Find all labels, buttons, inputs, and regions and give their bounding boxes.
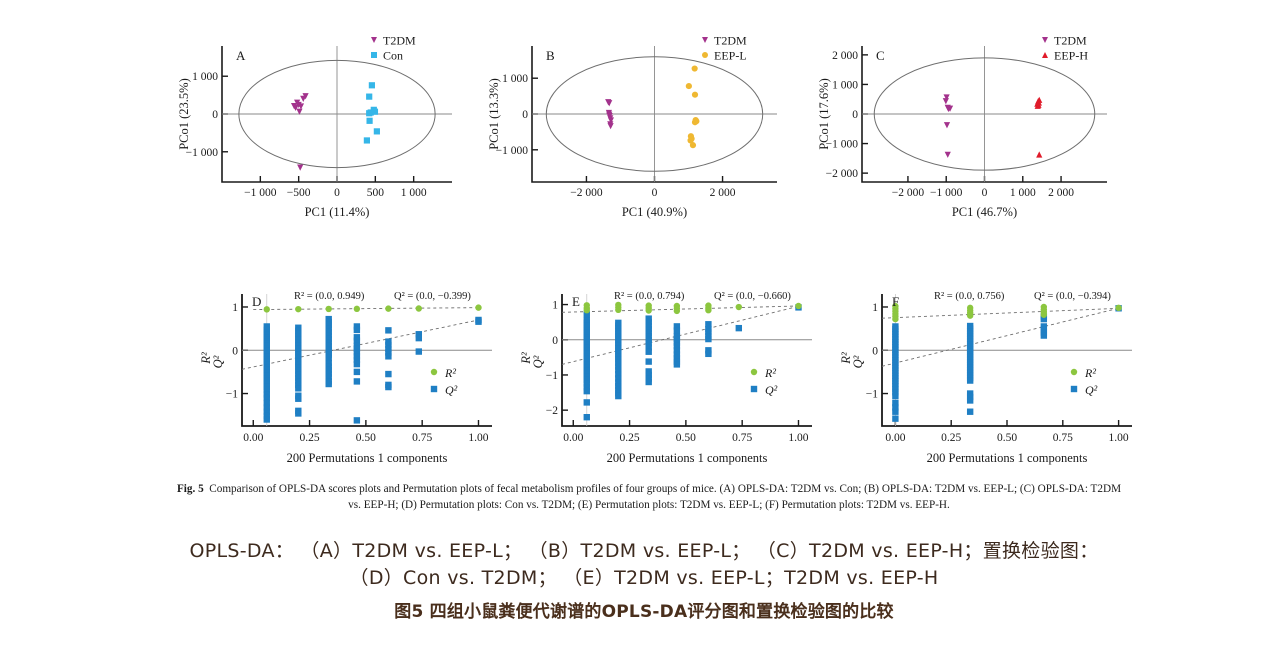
caption-cn-line-2: （D）Con vs. T2DM； （E）T2DM vs. EEP-L；T2DM …	[60, 565, 1228, 592]
x-tick-label: 0.50	[356, 432, 376, 444]
stat-q2-annotation: Q² = (0.0, −0.660)	[714, 291, 791, 302]
data-point-r2	[416, 305, 422, 311]
panel-b-opls-da-t2dm-vs-eep-l: −1 00001 000−2 00002 000BT2DMEEP-LPC1 (4…	[470, 28, 800, 228]
data-point-r2	[1041, 312, 1047, 318]
x-tick-label: −1 000	[244, 187, 277, 199]
axis-spine	[562, 294, 812, 426]
data-point-q2	[967, 409, 973, 415]
data-point-q2	[1041, 332, 1047, 338]
data-point-q2	[674, 361, 680, 367]
x-tick-label: 0.00	[885, 432, 905, 444]
data-point-r2	[264, 306, 270, 312]
legend-label-eep-h: EEP-H	[1054, 49, 1088, 63]
y-tick-label: 1	[872, 302, 878, 314]
x-axis-label: 200 Permutations 1 components	[607, 451, 768, 465]
y-tick-label: 0	[522, 109, 528, 121]
panel-letter: A	[236, 48, 246, 63]
y-tick-label: 1	[232, 302, 238, 314]
figure-caption-text: Comparison of OPLS-DA scores plots and P…	[209, 483, 1121, 511]
y-axis-label: PCo1 (17.6%)	[817, 78, 831, 150]
panel-e-svg: −2−1010.000.250.500.751.00ER² = (0.0, 0.…	[500, 272, 840, 472]
y-tick-label: 1	[552, 300, 558, 312]
panel-a-opls-da-t2dm-vs-con: −1 00001 000−1 000−50005001 000AT2DMConP…	[160, 28, 480, 228]
legend-label-con: Con	[383, 49, 403, 63]
y-axis-label-q2: Q²	[851, 355, 865, 368]
data-point-q2	[892, 393, 898, 399]
data-point-r2	[1115, 305, 1121, 311]
data-point-r2	[354, 306, 360, 312]
y-tick-label: −2 000	[826, 168, 859, 180]
data-point-r2	[615, 307, 621, 313]
data-point-t2dm	[945, 152, 951, 158]
data-point-q2	[646, 358, 652, 364]
panel-letter: E	[572, 294, 580, 309]
data-point-r2	[326, 306, 332, 312]
y-tick-label: 1 000	[832, 79, 858, 91]
y-tick-label: 0	[552, 335, 558, 347]
x-tick-label: 2 000	[710, 187, 736, 199]
x-tick-label: 0.00	[243, 432, 263, 444]
data-point-r2	[674, 308, 680, 314]
trend-line-q2	[562, 306, 798, 364]
x-tick-label: 1.00	[1109, 432, 1129, 444]
x-tick-label: −2 000	[570, 187, 603, 199]
x-tick-label: 0.25	[941, 432, 961, 444]
stat-r2-annotation: R² = (0.0, 0.794)	[614, 291, 685, 302]
x-tick-label: 0.75	[1053, 432, 1073, 444]
legend-marker-r2	[431, 369, 437, 375]
data-point-r2	[646, 307, 652, 313]
trend-line-q2	[242, 320, 478, 369]
data-point-con	[374, 128, 380, 134]
x-axis-label: 200 Permutations 1 components	[927, 451, 1088, 465]
y-tick-label: 0	[872, 345, 878, 357]
data-point-q2	[295, 410, 301, 416]
data-point-r2	[967, 312, 973, 318]
data-point-r2	[475, 304, 481, 310]
data-point-r2	[892, 316, 898, 322]
data-point-q2	[264, 416, 270, 422]
data-point-q2	[736, 325, 742, 331]
legend-marker-q2	[431, 386, 437, 392]
y-axis-label-q2: Q²	[211, 355, 225, 368]
x-tick-label: 0.25	[620, 432, 640, 444]
x-axis-label: PC1 (11.4%)	[305, 205, 370, 219]
data-point-q2	[354, 369, 360, 375]
figure-caption-english: Fig. 5 Comparison of OPLS-DA scores plot…	[170, 482, 1128, 513]
data-point-q2	[615, 393, 621, 399]
data-point-eep-l	[692, 119, 698, 125]
panel-d-permutation-con-vs-t2dm: −1010.000.250.500.751.00DR² = (0.0, 0.94…	[180, 272, 520, 472]
y-axis-label-q2: Q²	[531, 355, 545, 368]
x-tick-label: −500	[287, 187, 311, 199]
data-point-q2	[354, 378, 360, 384]
legend-label-t2dm: T2DM	[1054, 34, 1087, 48]
data-point-eep-l	[686, 83, 692, 89]
data-point-con	[364, 137, 370, 143]
data-point-t2dm	[943, 98, 949, 104]
data-point-eep-l	[692, 92, 698, 98]
figure-container: −1 00001 000−1 000−50005001 000AT2DMConP…	[0, 0, 1288, 647]
data-point-q2	[584, 388, 590, 394]
data-point-q2	[326, 381, 332, 387]
trend-line-q2	[882, 308, 1119, 366]
x-axis-label: PC1 (46.7%)	[952, 205, 1017, 219]
data-point-q2	[475, 318, 481, 324]
stat-q2-annotation: Q² = (0.0, −0.399)	[394, 291, 471, 302]
panel-e-permutation-t2dm-vs-eep-l: −2−1010.000.250.500.751.00ER² = (0.0, 0.…	[500, 272, 840, 472]
legend-marker-q2	[751, 386, 757, 392]
data-point-q2	[295, 385, 301, 391]
panel-f-svg: −1010.000.250.500.751.00FR² = (0.0, 0.75…	[820, 272, 1160, 472]
legend-marker-t2dm	[371, 37, 377, 43]
y-tick-label: 1 000	[502, 73, 528, 85]
data-point-t2dm	[297, 165, 303, 171]
panel-a-svg: −1 00001 000−1 000−50005001 000AT2DMConP…	[160, 28, 480, 228]
figure-caption-chinese-body: OPLS-DA： （A）T2DM vs. EEP-L； （B）T2DM vs. …	[60, 538, 1228, 592]
data-point-r2	[705, 307, 711, 313]
legend-label-t2dm: T2DM	[714, 34, 747, 48]
y-axis-label: PCo1 (13.3%)	[487, 78, 501, 150]
x-tick-label: 1 000	[1010, 187, 1036, 199]
panel-c-opls-da-t2dm-vs-eep-h: −2 000−1 00001 0002 000−2 000−1 00001 00…	[790, 28, 1130, 228]
data-point-q2	[967, 397, 973, 403]
x-tick-label: 1 000	[401, 187, 427, 199]
legend-label-r2: R²	[1084, 366, 1096, 380]
x-tick-label: 0	[334, 187, 340, 199]
panel-c-svg: −2 000−1 00001 0002 000−2 000−1 00001 00…	[790, 28, 1130, 228]
data-point-eep-h	[1036, 151, 1042, 157]
x-tick-label: 2 000	[1048, 187, 1074, 199]
y-tick-label: −2	[546, 405, 558, 417]
stat-r2-annotation: R² = (0.0, 0.756)	[934, 291, 1005, 302]
data-point-t2dm	[608, 123, 614, 129]
y-tick-label: −1	[866, 389, 878, 401]
trend-line-r2	[562, 306, 798, 312]
x-tick-label: 0	[652, 187, 658, 199]
data-point-r2	[385, 305, 391, 311]
data-point-q2	[892, 415, 898, 421]
stat-q2-annotation: Q² = (0.0, −0.394)	[1034, 291, 1111, 302]
data-point-q2	[646, 379, 652, 385]
data-point-q2	[354, 417, 360, 423]
data-point-t2dm	[944, 122, 950, 128]
legend-marker-t2dm	[702, 37, 708, 43]
x-tick-label: 1.00	[788, 432, 808, 444]
legend-marker-q2	[1071, 386, 1077, 392]
data-point-q2	[385, 327, 391, 333]
data-point-con	[366, 110, 372, 116]
data-point-q2	[646, 349, 652, 355]
legend-label-t2dm: T2DM	[383, 34, 416, 48]
x-tick-label: 1.00	[468, 432, 488, 444]
data-point-q2	[354, 361, 360, 367]
x-axis-label: PC1 (40.9%)	[622, 205, 687, 219]
legend-marker-t2dm	[1042, 37, 1048, 43]
figure-caption-chinese-title: 图5 四组小鼠粪便代谢谱的OPLS-DA评分图和置换检验图的比较	[60, 597, 1228, 622]
data-point-eep-l	[690, 142, 696, 148]
data-point-q2	[584, 414, 590, 420]
legend-label-eep-l: EEP-L	[714, 49, 747, 63]
legend-label-r2: R²	[444, 366, 456, 380]
data-point-q2	[385, 384, 391, 390]
y-axis-label: PCo1 (23.5%)	[177, 78, 191, 150]
data-point-q2	[385, 353, 391, 359]
data-point-r2	[584, 307, 590, 313]
y-tick-label: −1	[226, 389, 238, 401]
data-point-r2	[295, 306, 301, 312]
x-tick-label: 0.50	[997, 432, 1017, 444]
data-point-q2	[967, 377, 973, 383]
data-point-eep-l	[692, 65, 698, 71]
x-tick-label: 0.25	[300, 432, 320, 444]
legend-label-q2: Q²	[1085, 383, 1098, 397]
data-point-q2	[892, 409, 898, 415]
panel-letter: C	[876, 48, 885, 63]
data-point-q2	[705, 351, 711, 357]
x-axis-label: 200 Permutations 1 components	[287, 451, 448, 465]
y-tick-label: 1 000	[192, 71, 218, 83]
y-tick-label: 0	[232, 345, 238, 357]
panel-d-svg: −1010.000.250.500.751.00DR² = (0.0, 0.94…	[180, 272, 520, 472]
y-tick-label: −1	[546, 370, 558, 382]
legend-marker-eep-l	[702, 52, 708, 58]
trend-line-r2	[253, 308, 478, 310]
data-point-q2	[295, 396, 301, 402]
data-point-con	[366, 94, 372, 100]
data-point-q2	[584, 399, 590, 405]
data-point-con	[369, 82, 375, 88]
panel-letter: B	[546, 48, 555, 63]
x-tick-label: 0.75	[412, 432, 432, 444]
data-point-q2	[674, 327, 680, 333]
stat-r2-annotation: R² = (0.0, 0.949)	[294, 291, 365, 302]
x-tick-label: −1 000	[930, 187, 963, 199]
data-point-r2	[736, 304, 742, 310]
data-point-t2dm	[606, 100, 612, 106]
legend-marker-r2	[751, 369, 757, 375]
legend-marker-eep-h	[1042, 52, 1048, 58]
x-tick-label: 0.50	[676, 432, 696, 444]
legend-label-q2: Q²	[765, 383, 778, 397]
y-tick-label: 0	[212, 109, 218, 121]
x-tick-label: 500	[367, 187, 385, 199]
y-tick-label: 0	[852, 109, 858, 121]
y-tick-label: 2 000	[832, 50, 858, 62]
data-point-q2	[416, 348, 422, 354]
panel-letter: F	[892, 294, 899, 309]
x-tick-label: 0.00	[563, 432, 583, 444]
panel-b-svg: −1 00001 000−2 00002 000BT2DMEEP-LPC1 (4…	[470, 28, 800, 228]
data-point-q2	[705, 336, 711, 342]
data-point-q2	[416, 335, 422, 341]
x-tick-label: 0	[982, 187, 988, 199]
panel-f-permutation-t2dm-vs-eep-h: −1010.000.250.500.751.00FR² = (0.0, 0.75…	[820, 272, 1160, 472]
legend-label-q2: Q²	[445, 383, 458, 397]
legend-marker-con	[371, 52, 377, 58]
data-point-con	[366, 118, 372, 124]
data-point-q2	[385, 371, 391, 377]
figure-number: Fig. 5	[177, 483, 204, 495]
x-tick-label: 0.75	[732, 432, 752, 444]
axis-spine	[242, 294, 492, 426]
caption-cn-line-1: OPLS-DA： （A）T2DM vs. EEP-L； （B）T2DM vs. …	[60, 538, 1228, 565]
data-point-r2	[795, 303, 801, 309]
panel-letter: D	[252, 294, 261, 309]
x-tick-label: −2 000	[892, 187, 925, 199]
data-point-q2	[354, 327, 360, 333]
legend-marker-r2	[1071, 369, 1077, 375]
trend-line-r2	[882, 308, 1119, 318]
legend-label-r2: R²	[764, 366, 776, 380]
